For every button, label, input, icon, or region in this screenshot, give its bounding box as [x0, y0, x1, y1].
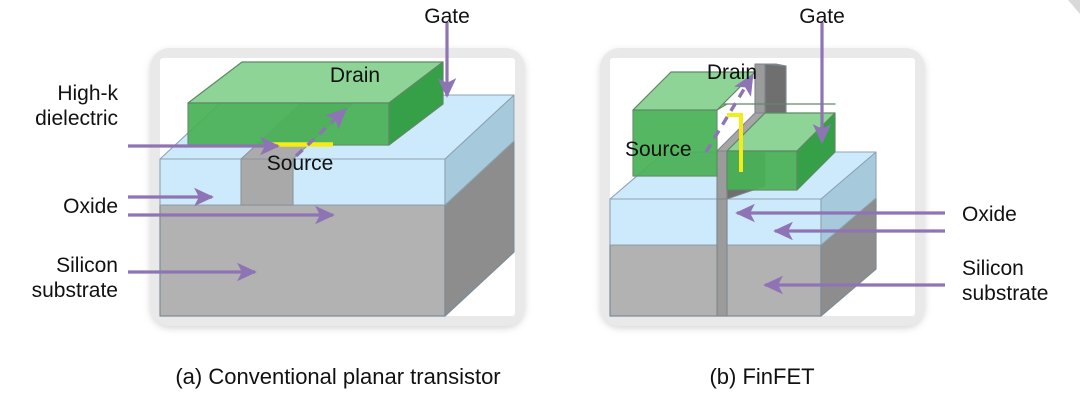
- oxide-front-right: [727, 199, 821, 245]
- label-source: Source: [625, 138, 692, 161]
- planar-gate-block: [188, 62, 443, 145]
- label-silicon-substrate-line2: substrate: [962, 282, 1048, 305]
- substrate-front-face: [610, 245, 821, 316]
- fin-drain-side: [765, 64, 786, 120]
- panel-b: Oxide Silicon substrate Gate Drain Sourc…: [600, 5, 1048, 389]
- figure-root: High-k dielectric Oxide Silicon substrat…: [0, 0, 1080, 406]
- label-silicon-substrate-line2: substrate: [32, 279, 118, 302]
- label-gate: Gate: [799, 5, 845, 28]
- label-high-k-dielectric-line2: dielectric: [35, 107, 118, 130]
- fin-front-face: [717, 151, 727, 199]
- label-silicon-substrate-line1: Silicon: [962, 257, 1024, 280]
- fin-lower-shank: [717, 199, 727, 316]
- label-high-k-dielectric-line1: High-k: [57, 82, 118, 105]
- label-silicon-substrate-line1: Silicon: [56, 254, 118, 277]
- gate-front-face: [188, 103, 389, 145]
- label-oxide: Oxide: [63, 195, 118, 218]
- transistor-comparison-figure: High-k dielectric Oxide Silicon substrat…: [0, 0, 1080, 406]
- page-corner-artifact: [1068, 0, 1080, 14]
- panel-a: High-k dielectric Oxide Silicon substrat…: [32, 5, 525, 389]
- oxide-front-left: [610, 199, 717, 245]
- label-source: Source: [267, 152, 334, 175]
- label-oxide: Oxide: [962, 203, 1017, 226]
- substrate-front-face: [160, 205, 445, 316]
- label-gate: Gate: [424, 5, 470, 28]
- caption-panel-a: (a) Conventional planar transistor: [175, 364, 500, 389]
- label-drain: Drain: [330, 64, 380, 87]
- caption-panel-b: (b) FinFET: [709, 364, 814, 389]
- label-drain: Drain: [707, 61, 757, 84]
- gate-front-face-right: [727, 151, 797, 190]
